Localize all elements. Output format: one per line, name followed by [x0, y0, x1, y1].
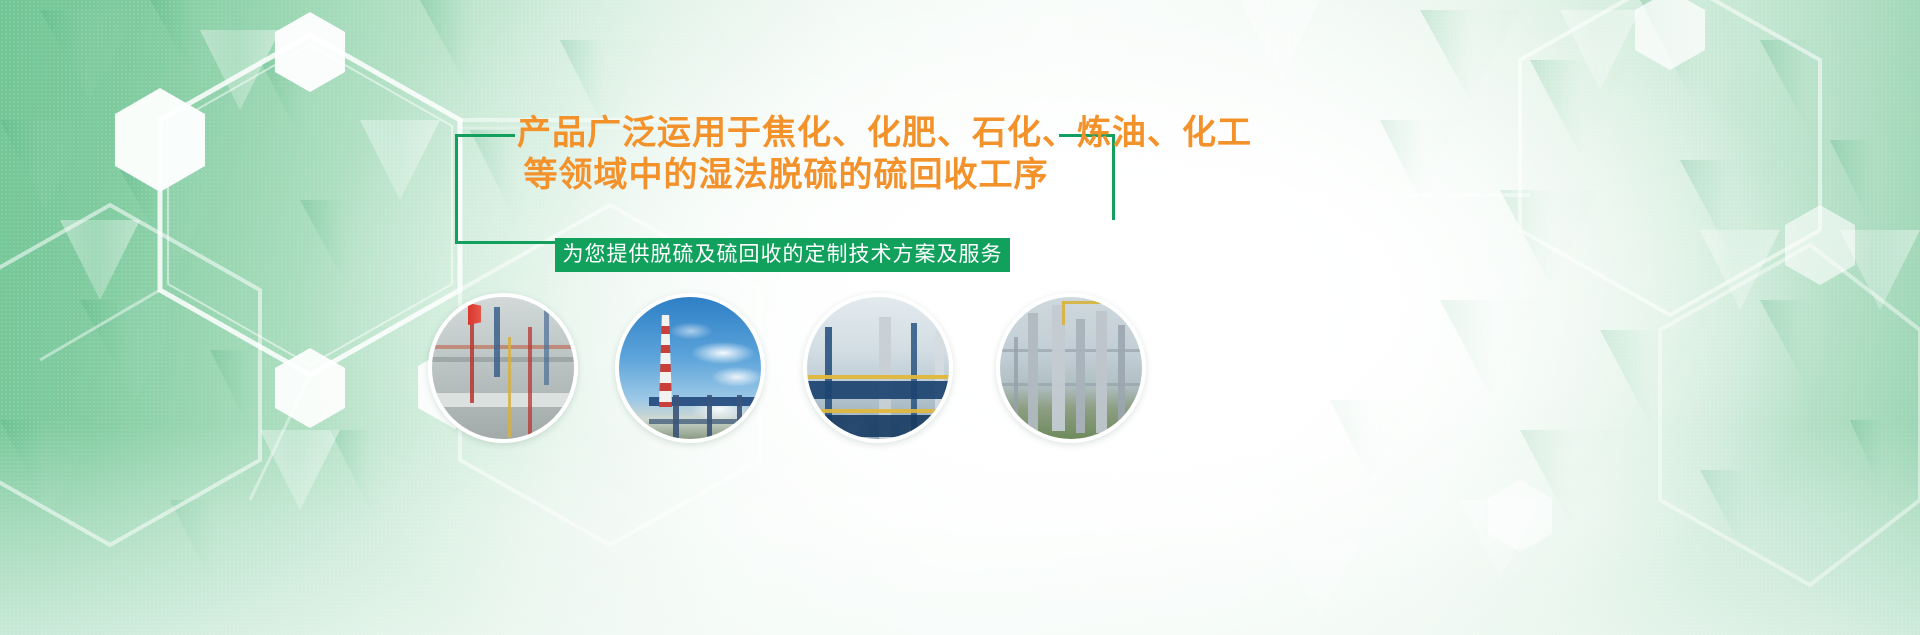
headline-line-2: 等领域中的湿法脱硫的硫回收工序 — [517, 154, 1055, 196]
headline: 产品广泛运用于焦化、化肥、石化、炼油、化工 等领域中的湿法脱硫的硫回收工序 — [517, 112, 1055, 196]
headline-line-1: 产品广泛运用于焦化、化肥、石化、炼油、化工 — [517, 112, 1055, 154]
chimney-structure — [649, 395, 759, 439]
photo-circle-desulfurization-pipe-rack — [428, 293, 578, 443]
photo-image-1 — [432, 297, 574, 439]
bracket-bottom-left-segment — [455, 241, 555, 244]
photo-circle-refinery-distillation-columns — [996, 293, 1146, 443]
photo-image-2 — [619, 297, 761, 439]
photo-circle-blue-storage-tanks — [803, 293, 953, 443]
headline-bracket-frame: 产品广泛运用于焦化、化肥、石化、炼油、化工 等领域中的湿法脱硫的硫回收工序 — [455, 112, 1115, 244]
photo-row — [0, 293, 1920, 453]
photo-image-4 — [1000, 297, 1142, 439]
banner-content: 产品广泛运用于焦化、化肥、石化、炼油、化工 等领域中的湿法脱硫的硫回收工序 为您… — [0, 0, 1920, 635]
subtitle-banner: 为您提供脱硫及硫回收的定制技术方案及服务 — [555, 238, 1010, 272]
hero-banner: 产品广泛运用于焦化、化肥、石化、炼油、化工 等领域中的湿法脱硫的硫回收工序 为您… — [0, 0, 1920, 635]
photo-image-3 — [807, 297, 949, 439]
subtitle-text: 为您提供脱硫及硫回收的定制技术方案及服务 — [563, 238, 1003, 272]
bracket-left-rule — [455, 134, 458, 244]
bracket-top-left-segment — [455, 134, 515, 137]
photo-circle-power-plant-chimney — [615, 293, 765, 443]
